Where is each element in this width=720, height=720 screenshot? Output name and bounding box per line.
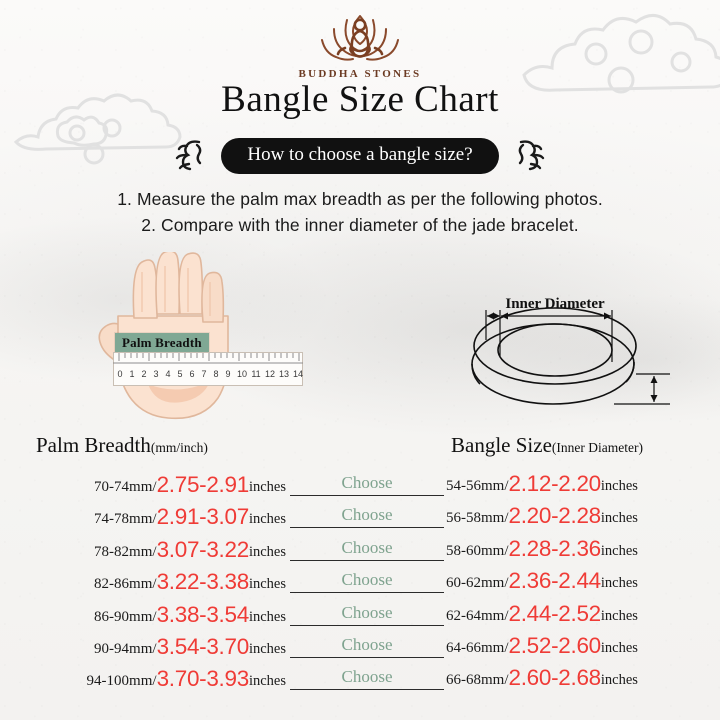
page-title: Bangle Size Chart xyxy=(0,78,720,121)
svg-text:7: 7 xyxy=(201,369,206,379)
lotus-meditation-icon xyxy=(300,8,420,70)
palm-breadth-inches: 2.75-2.91 xyxy=(157,472,249,498)
svg-text:4: 4 xyxy=(165,369,170,379)
size-value-group: 70-74mm/2.75-2.91inches xyxy=(14,471,286,497)
flourish-ornament-left-icon xyxy=(173,136,207,176)
palm-breadth-mm: 86-90mm xyxy=(94,609,152,626)
choose-field[interactable]: Choose xyxy=(290,502,444,528)
choose-field[interactable]: Choose xyxy=(290,600,444,626)
palm-breadth-header-main: Palm Breadth xyxy=(36,433,151,457)
choose-field[interactable]: Choose xyxy=(290,567,444,593)
bangle-size-mm: 64-66mm xyxy=(446,640,504,657)
bangle-size-inches: 2.60-2.68 xyxy=(509,665,601,691)
ruler-icon: 012 345 678 91011 121314 xyxy=(113,352,303,386)
svg-text:13: 13 xyxy=(279,369,289,379)
table-row: 94-100mm/3.70-3.93inchesChoose xyxy=(14,664,444,696)
palm-breadth-mm: 94-100mm xyxy=(87,673,153,690)
svg-text:14: 14 xyxy=(293,369,303,379)
choose-button[interactable]: Choose xyxy=(342,505,393,525)
size-chart-page: BUDDHA STONES Bangle Size Chart How to c… xyxy=(0,0,720,720)
palm-breadth-mm: 82-86mm xyxy=(94,576,152,593)
bangle-size-header-sub: (Inner Diameter) xyxy=(552,440,643,455)
choose-button[interactable]: Choose xyxy=(342,603,393,623)
table-row: 56-58mm/2.20-2.28inches xyxy=(446,502,716,534)
table-row: 78-82mm/3.07-3.22inchesChoose xyxy=(14,535,444,567)
bangle-size-mm: 56-58mm xyxy=(446,510,504,527)
table-row: 70-74mm/2.75-2.91inchesChoose xyxy=(14,470,444,502)
table-row: 62-64mm/2.44-2.52inches xyxy=(446,600,716,632)
unit-label: inches xyxy=(601,640,638,657)
unit-label: inches xyxy=(249,641,286,658)
unit-label: inches xyxy=(601,672,638,689)
choose-underline xyxy=(290,657,444,658)
choose-button[interactable]: Choose xyxy=(342,473,393,493)
palm-breadth-inches: 3.07-3.22 xyxy=(157,537,249,563)
subtitle-row: How to choose a bangle size? xyxy=(0,136,720,176)
flourish-ornament-right-icon xyxy=(513,136,547,176)
svg-text:11: 11 xyxy=(251,369,260,379)
choose-button[interactable]: Choose xyxy=(342,667,393,687)
instructions-block: 1. Measure the palm max breadth as per t… xyxy=(0,186,720,238)
choose-field[interactable]: Choose xyxy=(290,632,444,658)
unit-label: inches xyxy=(601,575,638,592)
size-value-group: 90-94mm/3.54-3.70inches xyxy=(14,633,286,659)
bangle-size-table: 54-56mm/2.12-2.20inches56-58mm/2.20-2.28… xyxy=(446,470,716,697)
unit-label: inches xyxy=(249,609,286,626)
svg-text:3: 3 xyxy=(153,369,158,379)
unit-label: inches xyxy=(249,511,286,528)
palm-breadth-inches: 3.70-3.93 xyxy=(157,666,249,692)
unit-label: inches xyxy=(249,576,286,593)
svg-text:0: 0 xyxy=(117,369,122,379)
palm-breadth-table: 70-74mm/2.75-2.91inchesChoose74-78mm/2.9… xyxy=(14,470,444,697)
size-value-group: 74-78mm/2.91-3.07inches xyxy=(14,503,286,529)
choose-underline xyxy=(290,495,444,496)
bangle-size-column-header: Bangle Size(Inner Diameter) xyxy=(451,433,643,458)
table-row: 82-86mm/3.22-3.38inchesChoose xyxy=(14,567,444,599)
palm-breadth-header-sub: (mm/inch) xyxy=(151,440,208,455)
choose-button[interactable]: Choose xyxy=(342,635,393,655)
palm-breadth-tag: Palm Breadth xyxy=(115,333,209,354)
choose-underline xyxy=(290,527,444,528)
choose-field[interactable]: Choose xyxy=(290,535,444,561)
size-value-group: 94-100mm/3.70-3.93inches xyxy=(14,665,286,691)
bangle-size-header-main: Bangle Size xyxy=(451,433,552,457)
bangle-size-inches: 2.12-2.20 xyxy=(509,471,601,497)
table-row: 74-78mm/2.91-3.07inchesChoose xyxy=(14,502,444,534)
bangle-size-inches: 2.28-2.36 xyxy=(509,536,601,562)
bangle-size-mm: 58-60mm xyxy=(446,543,504,560)
bangle-size-inches: 2.20-2.28 xyxy=(509,503,601,529)
palm-breadth-inches: 3.54-3.70 xyxy=(157,634,249,660)
bangle-size-mm: 54-56mm xyxy=(446,478,504,495)
svg-text:10: 10 xyxy=(237,369,247,379)
choose-underline xyxy=(290,625,444,626)
svg-text:5: 5 xyxy=(177,369,182,379)
choose-field[interactable]: Choose xyxy=(290,470,444,496)
unit-label: inches xyxy=(249,544,286,561)
bangle-size-inches: 2.44-2.52 xyxy=(509,601,601,627)
palm-breadth-mm: 74-78mm xyxy=(94,511,152,528)
palm-breadth-column-header: Palm Breadth(mm/inch) xyxy=(36,433,208,458)
unit-label: inches xyxy=(601,543,638,560)
svg-text:12: 12 xyxy=(265,369,275,379)
instruction-step-2: 2. Compare with the inner diameter of th… xyxy=(0,212,720,238)
subtitle-pill: How to choose a bangle size? xyxy=(221,138,498,174)
choose-button[interactable]: Choose xyxy=(342,538,393,558)
bangle-size-mm: 60-62mm xyxy=(446,575,504,592)
table-row: 64-66mm/2.52-2.60inches xyxy=(446,632,716,664)
table-row: 54-56mm/2.12-2.20inches xyxy=(446,470,716,502)
palm-breadth-mm: 70-74mm xyxy=(94,479,152,496)
bangle-size-mm: 66-68mm xyxy=(446,672,504,689)
svg-text:9: 9 xyxy=(225,369,230,379)
palm-breadth-inches: 3.22-3.38 xyxy=(157,569,249,595)
svg-text:1: 1 xyxy=(129,369,134,379)
choose-button[interactable]: Choose xyxy=(342,570,393,590)
table-row: 66-68mm/2.60-2.68inches xyxy=(446,664,716,696)
bangle-size-inches: 2.36-2.44 xyxy=(509,568,601,594)
unit-label: inches xyxy=(249,479,286,496)
palm-breadth-inches: 3.38-3.54 xyxy=(157,602,249,628)
svg-text:6: 6 xyxy=(189,369,194,379)
palm-breadth-inches: 2.91-3.07 xyxy=(157,504,249,530)
table-row: 86-90mm/3.38-3.54inchesChoose xyxy=(14,600,444,632)
choose-underline xyxy=(290,689,444,690)
unit-label: inches xyxy=(249,673,286,690)
svg-text:2: 2 xyxy=(141,369,146,379)
unit-label: inches xyxy=(601,478,638,495)
table-row: 58-60mm/2.28-2.36inches xyxy=(446,535,716,567)
unit-label: inches xyxy=(601,608,638,625)
palm-breadth-mm: 78-82mm xyxy=(94,544,152,561)
table-row: 90-94mm/3.54-3.70inchesChoose xyxy=(14,632,444,664)
bangle-size-mm: 62-64mm xyxy=(446,608,504,625)
brand-logo: BUDDHA STONES xyxy=(0,8,720,80)
table-row: 60-62mm/2.36-2.44inches xyxy=(446,567,716,599)
bangle-ring-icon xyxy=(440,286,670,421)
palm-breadth-mm: 90-94mm xyxy=(94,641,152,658)
choose-field[interactable]: Choose xyxy=(290,664,444,690)
instruction-step-1: 1. Measure the palm max breadth as per t… xyxy=(0,186,720,212)
size-value-group: 82-86mm/3.22-3.38inches xyxy=(14,568,286,594)
unit-label: inches xyxy=(601,510,638,527)
choose-underline xyxy=(290,560,444,561)
choose-underline xyxy=(290,592,444,593)
size-value-group: 86-90mm/3.38-3.54inches xyxy=(14,601,286,627)
svg-text:8: 8 xyxy=(213,369,218,379)
bangle-size-inches: 2.52-2.60 xyxy=(509,633,601,659)
size-value-group: 78-82mm/3.07-3.22inches xyxy=(14,536,286,562)
